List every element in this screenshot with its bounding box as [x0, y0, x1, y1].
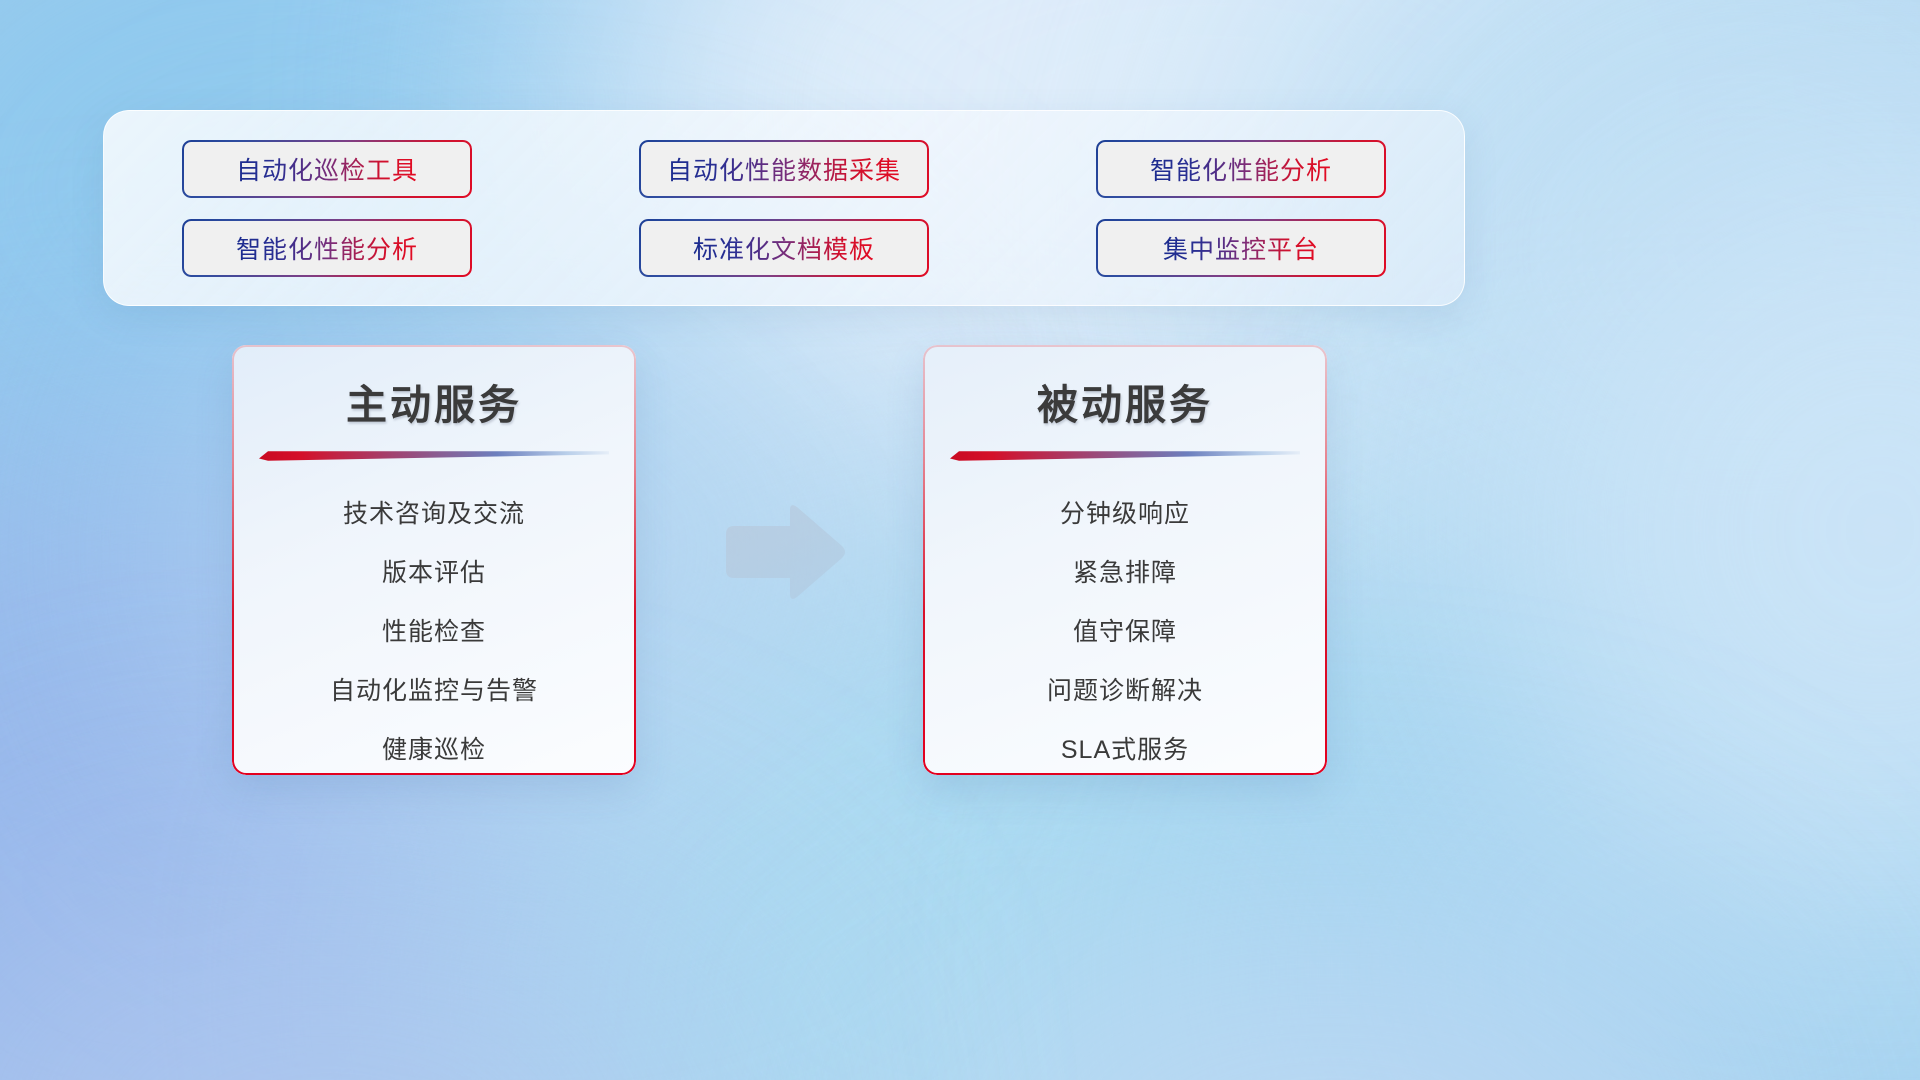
capabilities-panel: 自动化巡检工具 智能化性能分析 自动化性能数据采集 标准化文档模板 智能化性能分… [103, 110, 1465, 306]
list-item: 紧急排障 [1073, 544, 1177, 603]
list-item: 健康巡检 [382, 721, 486, 775]
card-divider [259, 449, 609, 463]
capability-pill[interactable]: 智能化性能分析 [182, 219, 472, 277]
card-title: 主动服务 [232, 371, 636, 431]
list-item: 分钟级响应 [1060, 485, 1190, 544]
list-item: 问题诊断解决 [1047, 662, 1203, 721]
list-item: 值守保障 [1073, 603, 1177, 662]
capability-pill[interactable]: 集中监控平台 [1096, 219, 1386, 277]
capability-pill[interactable]: 智能化性能分析 [1096, 140, 1386, 198]
capability-pill-label: 自动化性能数据采集 [667, 151, 901, 187]
card-item-list: 技术咨询及交流 版本评估 性能检查 自动化监控与告警 健康巡检 [232, 485, 636, 775]
flow-arrow-right-icon [718, 500, 848, 605]
capability-column-1: 自动化巡检工具 智能化性能分析 [182, 140, 472, 277]
capability-pill[interactable]: 自动化性能数据采集 [639, 140, 929, 198]
list-item: 性能检查 [382, 603, 486, 662]
list-item: 自动化监控与告警 [330, 662, 538, 721]
capability-pill-label: 自动化巡检工具 [236, 151, 418, 187]
slide-canvas: 自动化巡检工具 智能化性能分析 自动化性能数据采集 标准化文档模板 智能化性能分… [0, 0, 1920, 1080]
capability-pill-label: 智能化性能分析 [236, 230, 418, 266]
list-item: SLA式服务 [1061, 721, 1189, 775]
capability-pill-label: 智能化性能分析 [1150, 151, 1332, 187]
service-card-passive[interactable]: 被动服务 分钟级响应 紧急排障 值守保障 [923, 345, 1327, 775]
capability-pill-label: 集中监控平台 [1163, 230, 1319, 266]
capability-column-3: 智能化性能分析 集中监控平台 [1096, 140, 1386, 277]
card-divider [950, 449, 1300, 463]
capability-pill[interactable]: 自动化巡检工具 [182, 140, 472, 198]
capability-pill-label: 标准化文档模板 [693, 230, 875, 266]
card-item-list: 分钟级响应 紧急排障 值守保障 问题诊断解决 SLA式服务 [923, 485, 1327, 775]
capability-column-2: 自动化性能数据采集 标准化文档模板 [639, 140, 929, 277]
list-item: 版本评估 [382, 544, 486, 603]
card-title: 被动服务 [923, 371, 1327, 431]
list-item: 技术咨询及交流 [343, 485, 525, 544]
service-card-active[interactable]: 主动服务 技术咨询及交流 版本评估 性能检查 [232, 345, 636, 775]
capability-pill[interactable]: 标准化文档模板 [639, 219, 929, 277]
